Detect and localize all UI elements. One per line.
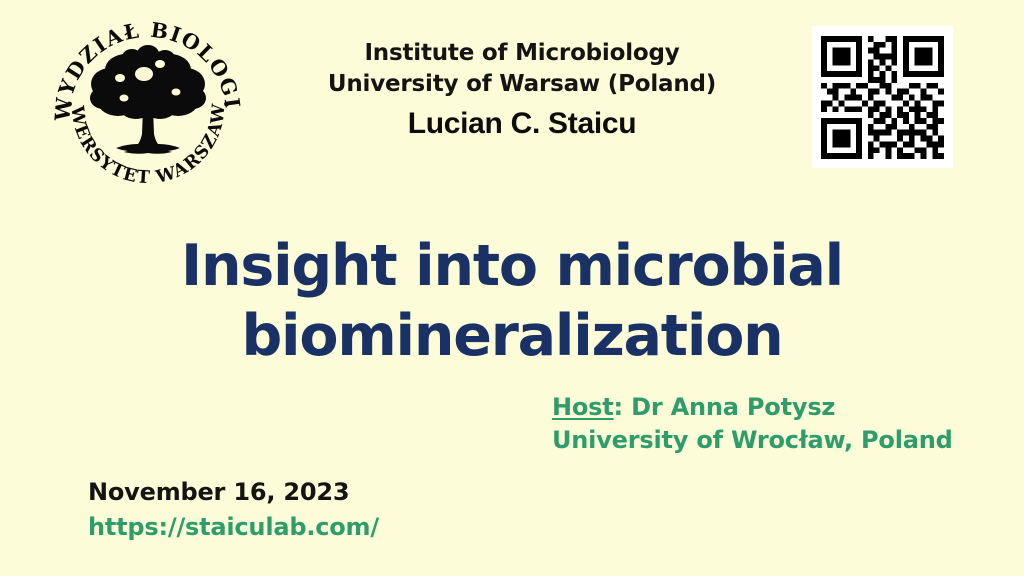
presentation-title-slide: WYDZIAŁ BIOLOGII UNIWERSYTET WARSZAWSKI [0, 0, 1024, 576]
host-block: Host: Dr Anna Potysz University of Wrocł… [552, 391, 953, 457]
host-affiliation: University of Wrocław, Poland [552, 424, 953, 457]
header-text-block: Institute of Microbiology University of … [262, 38, 782, 144]
title-line-1: Insight into microbial [120, 231, 904, 301]
institute-line-1: Institute of Microbiology [262, 38, 782, 69]
presenter-name: Lucian C. Staicu [262, 104, 782, 144]
title-line-2: biomineralization [120, 301, 904, 371]
host-line: Host: Dr Anna Potysz [552, 391, 953, 424]
institute-line-2: University of Warsaw (Poland) [262, 69, 782, 100]
event-date: November 16, 2023 [88, 476, 379, 509]
qr-code[interactable] [821, 36, 944, 159]
host-label: Host [552, 393, 614, 421]
host-person: Dr Anna Potysz [631, 393, 835, 421]
host-separator: : [614, 393, 632, 421]
qr-code-panel[interactable] [812, 26, 953, 168]
footer-block: November 16, 2023 https://staiculab.com/ [88, 476, 379, 544]
university-seal-logo: WYDZIAŁ BIOLOGII UNIWERSYTET WARSZAWSKI [48, 12, 248, 192]
page-title: Insight into microbial biomineralization [120, 231, 904, 371]
website-url[interactable]: https://staiculab.com/ [88, 511, 379, 544]
